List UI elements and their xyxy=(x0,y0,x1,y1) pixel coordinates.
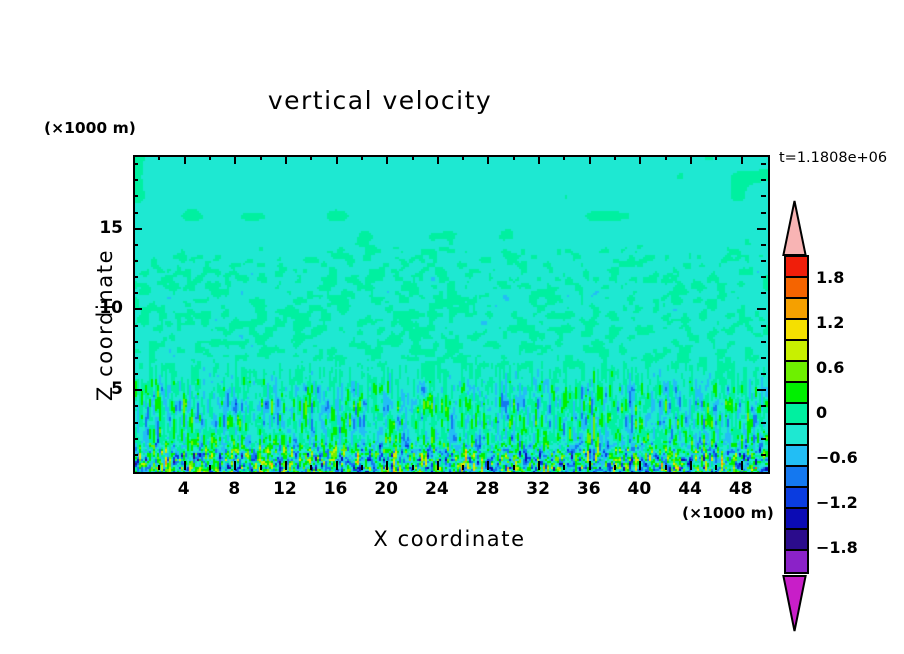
x-axis-tick xyxy=(336,461,338,470)
x-axis-tick xyxy=(589,155,591,164)
vertical-velocity-field xyxy=(135,157,768,472)
x-axis-title: X coordinate xyxy=(133,527,766,551)
colorbar-band xyxy=(786,278,807,299)
colorbar-tick-label: 0.6 xyxy=(816,358,844,377)
colorbar-band-divider xyxy=(784,276,809,278)
x-axis-tick xyxy=(437,461,439,470)
y-axis-tick xyxy=(133,163,138,165)
x-axis-tick xyxy=(487,461,489,470)
x-axis-tick xyxy=(462,465,464,470)
x-axis-tick xyxy=(361,155,363,160)
x-axis-tick xyxy=(412,465,414,470)
colorbar-band-divider xyxy=(784,381,809,383)
y-axis-tick xyxy=(133,454,138,456)
y-axis-tick xyxy=(133,341,138,343)
figure-canvas: vertical velocity (×1000 m) t=1.1808e+06… xyxy=(0,0,904,654)
colorbar-band xyxy=(786,509,807,530)
x-axis-tick xyxy=(260,155,262,160)
y-axis-tick xyxy=(761,405,766,407)
y-axis-tick xyxy=(757,389,766,391)
colorbar-band xyxy=(786,383,807,404)
colorbar-cap-bottom xyxy=(782,574,807,632)
x-axis-tick xyxy=(209,465,211,470)
colorbar-band-divider xyxy=(784,423,809,425)
y-axis-tick xyxy=(761,438,766,440)
x-axis-tick xyxy=(361,465,363,470)
colorbar-band xyxy=(786,488,807,509)
x-axis-tick xyxy=(184,461,186,470)
x-axis-tick xyxy=(386,461,388,470)
colorbar-band-divider xyxy=(784,549,809,551)
colorbar-band-divider xyxy=(784,444,809,446)
x-axis-tick xyxy=(310,465,312,470)
colorbar-band xyxy=(786,341,807,362)
y-axis-tick xyxy=(761,244,766,246)
x-tick-label: 28 xyxy=(467,479,507,499)
y-axis-tick xyxy=(133,195,138,197)
x-tick-label: 20 xyxy=(366,479,406,499)
colorbar-band xyxy=(786,362,807,383)
y-axis-tick xyxy=(133,244,138,246)
x-axis-tick xyxy=(209,155,211,160)
colorbar-band xyxy=(786,299,807,320)
x-axis-unit-label: (×1000 m) xyxy=(682,504,774,522)
time-annotation: t=1.1808e+06 xyxy=(779,150,887,166)
x-tick-label: 32 xyxy=(518,479,558,499)
x-axis-tick xyxy=(690,155,692,164)
y-axis-unit-label: (×1000 m) xyxy=(44,119,136,137)
x-axis-tick xyxy=(285,461,287,470)
x-axis-tick xyxy=(336,155,338,164)
x-axis-tick xyxy=(310,155,312,160)
x-axis-tick xyxy=(715,155,717,160)
page-title: vertical velocity xyxy=(0,86,760,115)
y-axis-title: Z coordinate xyxy=(93,165,117,485)
x-axis-tick xyxy=(462,155,464,160)
x-axis-tick xyxy=(234,461,236,470)
x-axis-tick xyxy=(260,465,262,470)
x-tick-label: 12 xyxy=(265,479,305,499)
y-axis-tick xyxy=(133,389,142,391)
x-axis-tick xyxy=(285,155,287,164)
y-axis-tick xyxy=(761,357,766,359)
colorbar-cap-top xyxy=(782,200,807,255)
colorbar-band-divider xyxy=(784,465,809,467)
colorbar-band-divider xyxy=(784,507,809,509)
y-axis-tick xyxy=(757,308,766,310)
x-tick-label: 40 xyxy=(619,479,659,499)
x-tick-label: 16 xyxy=(316,479,356,499)
y-axis-tick xyxy=(133,325,138,327)
colorbar-tick-label: 1.2 xyxy=(816,313,844,332)
colorbar-band xyxy=(786,320,807,341)
y-axis-tick xyxy=(757,228,766,230)
x-tick-label: 48 xyxy=(721,479,761,499)
y-axis-tick xyxy=(133,373,138,375)
colorbar-tick-label: 1.8 xyxy=(816,268,844,287)
colorbar-band-divider xyxy=(784,339,809,341)
x-axis-tick xyxy=(614,465,616,470)
colorbar-band xyxy=(786,551,807,572)
y-axis-tick xyxy=(133,357,138,359)
plot-area xyxy=(133,155,770,474)
x-tick-label: 24 xyxy=(417,479,457,499)
colorbar-body xyxy=(784,255,809,574)
colorbar-band xyxy=(786,257,807,278)
y-axis-tick xyxy=(133,260,138,262)
y-axis-tick xyxy=(761,373,766,375)
y-axis-tick xyxy=(761,454,766,456)
x-axis-tick xyxy=(563,465,565,470)
y-axis-tick xyxy=(133,405,138,407)
y-axis-tick xyxy=(133,292,138,294)
x-axis-tick xyxy=(386,155,388,164)
x-axis-tick xyxy=(741,461,743,470)
colorbar-tick-label: −1.8 xyxy=(816,538,858,557)
y-axis-tick xyxy=(133,308,142,310)
y-axis-tick xyxy=(761,422,766,424)
x-axis-tick xyxy=(665,465,667,470)
y-axis-tick xyxy=(133,422,138,424)
x-axis-tick xyxy=(538,155,540,164)
y-axis-tick xyxy=(761,341,766,343)
y-axis-tick xyxy=(761,195,766,197)
y-axis-tick xyxy=(133,179,138,181)
y-axis-tick xyxy=(761,325,766,327)
colorbar-band xyxy=(786,446,807,467)
colorbar-tick-label: −1.2 xyxy=(816,493,858,512)
colorbar-band xyxy=(786,530,807,551)
x-axis-tick xyxy=(437,155,439,164)
x-tick-label: 36 xyxy=(569,479,609,499)
x-tick-label: 8 xyxy=(214,479,254,499)
y-axis-tick xyxy=(761,212,766,214)
colorbar-band-divider xyxy=(784,402,809,404)
x-axis-tick xyxy=(715,465,717,470)
colorbar-band xyxy=(786,425,807,446)
x-axis-tick xyxy=(513,155,515,160)
y-axis-tick xyxy=(761,276,766,278)
colorbar-band-divider xyxy=(784,486,809,488)
x-axis-tick xyxy=(158,465,160,470)
colorbar-band xyxy=(786,467,807,488)
colorbar-band-divider xyxy=(784,297,809,299)
x-axis-tick xyxy=(158,155,160,160)
x-axis-tick xyxy=(690,461,692,470)
x-axis-tick xyxy=(639,461,641,470)
x-axis-tick xyxy=(487,155,489,164)
x-axis-tick xyxy=(412,155,414,160)
x-axis-tick xyxy=(234,155,236,164)
colorbar-tick-label: −0.6 xyxy=(816,448,858,467)
x-axis-tick xyxy=(639,155,641,164)
x-axis-tick xyxy=(184,155,186,164)
y-axis-tick xyxy=(761,179,766,181)
colorbar-band-divider xyxy=(784,318,809,320)
y-axis-tick xyxy=(133,212,138,214)
colorbar-band xyxy=(786,404,807,425)
colorbar-tick-label: 0 xyxy=(816,403,827,422)
x-axis-tick xyxy=(513,465,515,470)
colorbar-band-divider xyxy=(784,528,809,530)
x-axis-tick xyxy=(614,155,616,160)
x-axis-tick xyxy=(589,461,591,470)
y-axis-tick xyxy=(133,276,138,278)
x-tick-label: 44 xyxy=(670,479,710,499)
y-axis-tick xyxy=(133,438,138,440)
y-axis-tick xyxy=(133,228,142,230)
x-axis-tick xyxy=(563,155,565,160)
x-axis-tick xyxy=(538,461,540,470)
y-axis-tick xyxy=(761,260,766,262)
colorbar-band-divider xyxy=(784,360,809,362)
x-axis-tick xyxy=(665,155,667,160)
y-axis-tick xyxy=(761,292,766,294)
y-axis-tick xyxy=(761,163,766,165)
x-axis-tick xyxy=(741,155,743,164)
x-tick-label: 4 xyxy=(164,479,204,499)
